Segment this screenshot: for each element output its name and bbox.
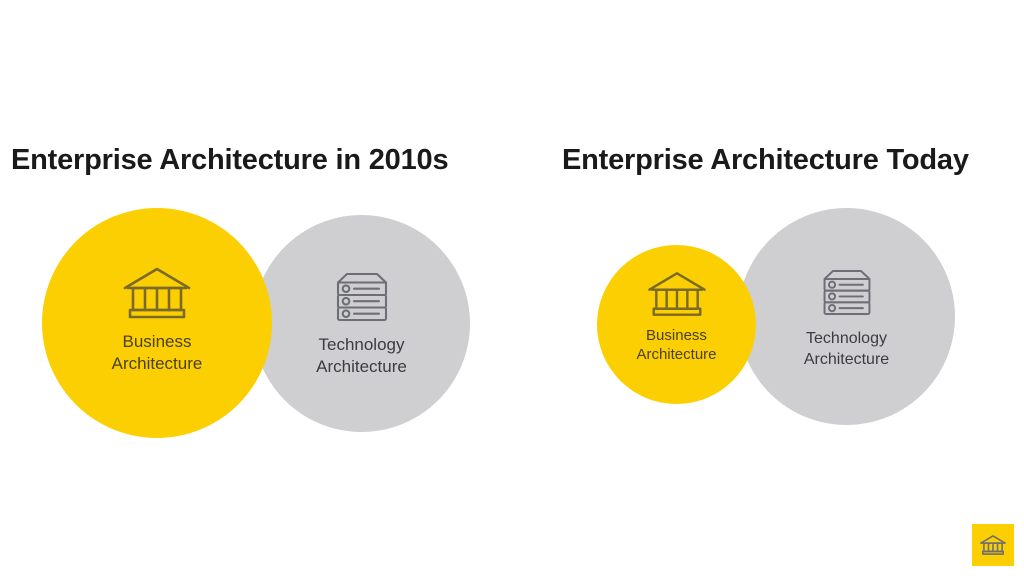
- panel-title-2010s: Enterprise Architecture in 2010s: [11, 143, 448, 177]
- label-line-1: Business: [646, 327, 707, 344]
- bank-icon: [979, 534, 1007, 556]
- circle-content: Business Architecture: [597, 269, 756, 364]
- panel-title-today: Enterprise Architecture Today: [562, 143, 969, 177]
- circle-label-business-today: Business Architecture: [636, 326, 716, 364]
- bank-icon: [120, 264, 194, 322]
- circle-content: Technology Architecture: [738, 266, 955, 370]
- circle-content: Business Architecture: [42, 264, 272, 375]
- circle-business-architecture-2010s[interactable]: Business Architecture: [42, 208, 272, 438]
- circle-technology-architecture-2010s[interactable]: Technology Architecture: [253, 215, 470, 432]
- label-line-1: Technology: [806, 330, 887, 347]
- circle-label-technology-today: Technology Architecture: [804, 328, 889, 370]
- circle-technology-architecture-today[interactable]: Technology Architecture: [738, 208, 955, 425]
- label-line-2: Architecture: [316, 356, 407, 378]
- label-line-2: Architecture: [112, 353, 203, 375]
- label-line-1: Technology: [318, 335, 404, 354]
- server-rack-icon: [331, 269, 393, 325]
- circle-content: Technology Architecture: [253, 269, 470, 378]
- server-rack-icon: [818, 266, 876, 319]
- label-line-2: Architecture: [636, 345, 716, 364]
- slide-canvas: Enterprise Architecture in 2010s Enterpr…: [0, 0, 1024, 576]
- bank-icon: [645, 269, 709, 319]
- label-line-2: Architecture: [804, 349, 889, 370]
- label-line-1: Business: [123, 332, 192, 351]
- circle-label-technology-2010s: Technology Architecture: [316, 334, 407, 378]
- circle-business-architecture-today[interactable]: Business Architecture: [597, 245, 756, 404]
- brand-badge[interactable]: [972, 524, 1014, 566]
- circle-label-business-2010s: Business Architecture: [112, 331, 203, 375]
